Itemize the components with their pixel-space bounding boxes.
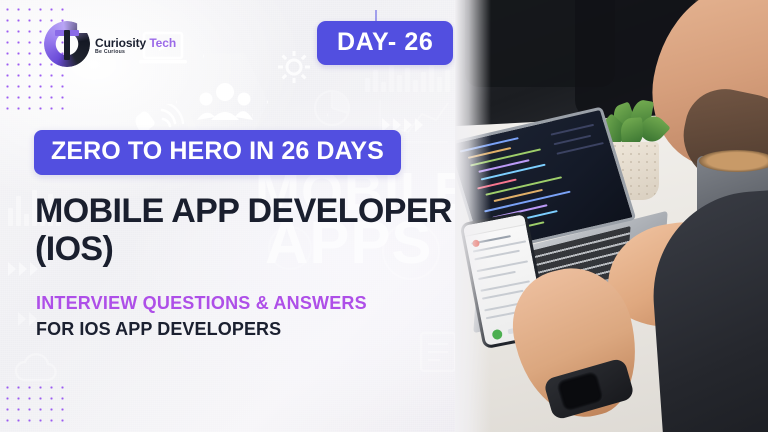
coffee-surface	[699, 150, 768, 172]
photo-left-fade	[455, 0, 491, 432]
zero-to-hero-pill: ZERO TO HERO IN 26 DAYS	[34, 130, 401, 175]
brand-name-part2: Tech	[149, 36, 176, 50]
chevron-arrows-left-2	[18, 312, 37, 326]
bar-chart-icon	[365, 66, 450, 92]
cloud-icon	[12, 352, 62, 389]
people-group-icon	[197, 80, 253, 122]
subtitle-secondary: FOR IOS APP DEVELOPERS	[36, 320, 281, 338]
pie-chart-icon	[312, 88, 352, 133]
left-content-panel: MOBILE APPS Curiosity Tech Be Curious DA…	[0, 0, 470, 432]
brand-logo-text: Curiosity Tech Be Curious	[95, 32, 176, 56]
page-title-line2: (IOS)	[35, 230, 452, 268]
brand-logo[interactable]: Curiosity Tech Be Curious	[44, 21, 176, 67]
gear-icon	[277, 50, 311, 84]
purple-dot-grid-bottom-left	[2, 382, 72, 430]
page-title: MOBILE APP DEVELOPER (IOS)	[35, 192, 452, 268]
brand-name-part1: Curiosity	[95, 36, 146, 50]
curiosity-tech-logo-icon	[44, 21, 90, 67]
poster-canvas: MOBILE APPS Curiosity Tech Be Curious DA…	[0, 0, 768, 432]
document-icon	[418, 330, 458, 379]
day-badge: DAY- 26	[317, 21, 453, 65]
subtitle-primary: INTERVIEW QUESTIONS & ANSWERS	[36, 294, 367, 312]
page-title-line1: MOBILE APP DEVELOPER	[35, 192, 452, 230]
brand-tagline: Be Curious	[95, 50, 176, 55]
chevron-arrows-left	[8, 262, 38, 276]
developer-photo	[455, 0, 768, 432]
